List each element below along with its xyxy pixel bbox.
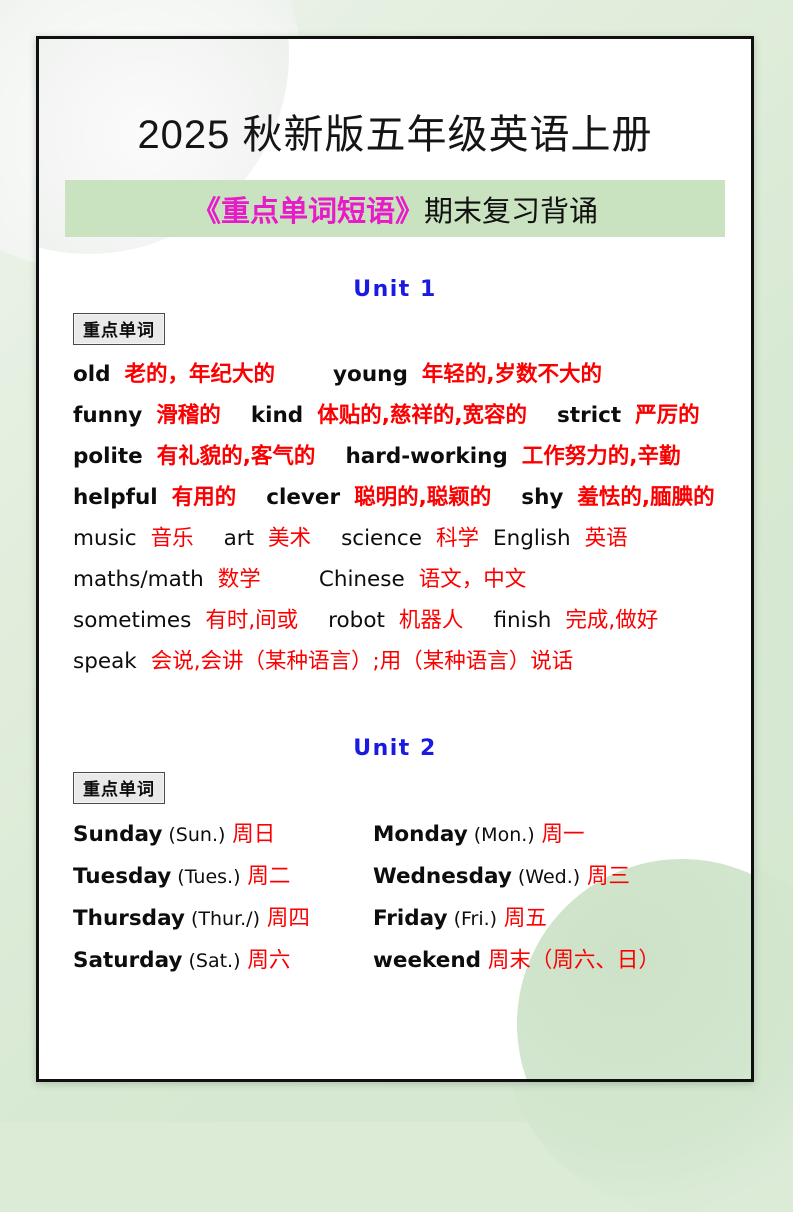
weekday-english: Tuesday xyxy=(73,864,171,889)
weekday-english: Saturday xyxy=(73,948,182,973)
word-line: funny滑稽的kind体贴的,慈祥的,宽容的strict严厉的 xyxy=(73,395,725,436)
subtitle-banner: 《重点单词短语》期末复习背诵 xyxy=(65,180,725,237)
word-chinese: 科学 xyxy=(436,526,479,551)
weekday-abbreviation: (Mon.) xyxy=(468,824,535,846)
weekday-chinese: 周一 xyxy=(535,822,585,847)
page-title: 2025 秋新版五年级英语上册 xyxy=(65,113,725,157)
weekday-abbreviation: (Wed.) xyxy=(512,866,580,888)
weekday-abbreviation: (Sat.) xyxy=(182,950,240,972)
weekday-abbreviation: (Fri.) xyxy=(448,908,498,930)
word-chinese: 老的，年纪大的 xyxy=(125,362,276,387)
word-chinese: 语文，中文 xyxy=(419,567,527,592)
unit-1-badge-row: 重点单词 xyxy=(65,313,725,345)
word-chinese: 机器人 xyxy=(399,608,464,633)
word-english: shy xyxy=(521,485,563,510)
weekday-row: Tuesday (Tues.) 周二Wednesday (Wed.) 周三 xyxy=(73,856,725,898)
weekday-entry: Saturday (Sat.) 周六 xyxy=(73,940,373,982)
word-english: speak xyxy=(73,649,137,674)
word-chinese: 聪明的,聪颖的 xyxy=(354,485,491,510)
word-english: English xyxy=(493,526,571,551)
subtitle-rest: 期末复习背诵 xyxy=(424,188,598,230)
weekday-entry: weekend 周末（周六、日） xyxy=(373,940,660,982)
unit-2-heading: Unit 2 xyxy=(65,736,725,761)
word-chinese: 会说,会讲（某种语言）;用（某种语言）说话 xyxy=(151,649,574,674)
weekday-abbreviation: (Thur./) xyxy=(185,908,260,930)
word-english: sometimes xyxy=(73,608,191,633)
weekday-english: Monday xyxy=(373,822,468,847)
weekday-chinese: 周四 xyxy=(260,906,310,931)
weekday-abbreviation: (Sun.) xyxy=(162,824,225,846)
weekday-chinese: 周六 xyxy=(241,948,291,973)
weekday-row: Thursday (Thur./) 周四Friday (Fri.) 周五 xyxy=(73,898,725,940)
word-chinese: 体贴的,慈祥的,宽容的 xyxy=(317,403,527,428)
word-line: polite有礼貌的,客气的hard-working工作努力的,辛勤 xyxy=(73,436,725,477)
word-english: maths/math xyxy=(73,567,204,592)
word-line: old老的，年纪大的young年轻的,岁数不大的 xyxy=(73,354,725,395)
weekday-chinese: 周末（周六、日） xyxy=(481,948,660,973)
word-english: science xyxy=(341,526,422,551)
word-english: music xyxy=(73,526,137,551)
word-english: funny xyxy=(73,403,142,428)
weekday-row: Saturday (Sat.) 周六weekend 周末（周六、日） xyxy=(73,940,725,982)
word-english: art xyxy=(224,526,254,551)
word-chinese: 羞怯的,腼腆的 xyxy=(577,485,714,510)
word-line: music音乐art美术science科学English英语 xyxy=(73,518,725,559)
word-chinese: 完成,做好 xyxy=(565,608,658,633)
word-english: finish xyxy=(493,608,551,633)
unit-1-heading: Unit 1 xyxy=(65,277,725,302)
weekday-entry: Sunday (Sun.) 周日 xyxy=(73,814,373,856)
weekday-row: Sunday (Sun.) 周日Monday (Mon.) 周一 xyxy=(73,814,725,856)
word-english: old xyxy=(73,362,111,387)
weekday-entry: Thursday (Thur./) 周四 xyxy=(73,898,373,940)
weekday-chinese: 周三 xyxy=(580,864,630,889)
document-card: 2025 秋新版五年级英语上册 《重点单词短语》期末复习背诵 Unit 1 重点… xyxy=(36,36,754,1082)
word-english: clever xyxy=(266,485,340,510)
weekday-english: Thursday xyxy=(73,906,185,931)
weekday-chinese: 周日 xyxy=(225,822,275,847)
document-body: 2025 秋新版五年级英语上册 《重点单词短语》期末复习背诵 Unit 1 重点… xyxy=(39,113,751,982)
word-english: Chinese xyxy=(319,567,405,592)
word-english: polite xyxy=(73,444,143,469)
word-line: maths/math数学Chinese语文，中文 xyxy=(73,559,725,600)
word-chinese: 音乐 xyxy=(151,526,194,551)
word-chinese: 英语 xyxy=(585,526,628,551)
word-chinese: 数学 xyxy=(218,567,261,592)
word-english: strict xyxy=(557,403,621,428)
weekday-english: Friday xyxy=(373,906,448,931)
weekday-english: Wednesday xyxy=(373,864,512,889)
word-english: kind xyxy=(251,403,303,428)
weekday-entry: Friday (Fri.) 周五 xyxy=(373,898,547,940)
word-english: young xyxy=(333,362,408,387)
weekday-chinese: 周五 xyxy=(497,906,547,931)
word-line: sometimes有时,间或robot机器人finish完成,做好 xyxy=(73,600,725,641)
weekday-english: weekend xyxy=(373,948,481,973)
word-chinese: 年轻的,岁数不大的 xyxy=(422,362,602,387)
word-chinese: 工作努力的,辛勤 xyxy=(522,444,681,469)
word-chinese: 有时,间或 xyxy=(205,608,298,633)
weekday-english: Sunday xyxy=(73,822,162,847)
word-chinese: 严厉的 xyxy=(635,403,700,428)
weekday-abbreviation: (Tues.) xyxy=(171,866,240,888)
word-english: hard-working xyxy=(345,444,507,469)
unit-2-weekday-grid: Sunday (Sun.) 周日Monday (Mon.) 周一Tuesday … xyxy=(65,814,725,982)
weekday-entry: Tuesday (Tues.) 周二 xyxy=(73,856,373,898)
subtitle-highlight: 《重点单词短语》 xyxy=(192,188,424,230)
word-english: robot xyxy=(328,608,385,633)
word-line: helpful有用的clever聪明的,聪颖的shy羞怯的,腼腆的 xyxy=(73,477,725,518)
weekday-chinese: 周二 xyxy=(241,864,291,889)
word-chinese: 有用的 xyxy=(172,485,237,510)
word-chinese: 有礼貌的,客气的 xyxy=(157,444,316,469)
key-words-badge: 重点单词 xyxy=(73,313,165,345)
word-chinese: 滑稽的 xyxy=(156,403,221,428)
word-english: helpful xyxy=(73,485,158,510)
unit-2-badge-row: 重点单词 xyxy=(65,772,725,804)
weekday-entry: Wednesday (Wed.) 周三 xyxy=(373,856,630,898)
word-line: speak会说,会讲（某种语言）;用（某种语言）说话 xyxy=(73,641,725,682)
weekday-entry: Monday (Mon.) 周一 xyxy=(373,814,585,856)
word-chinese: 美术 xyxy=(268,526,311,551)
key-words-badge: 重点单词 xyxy=(73,772,165,804)
unit-1-word-list: old老的，年纪大的young年轻的,岁数不大的funny滑稽的kind体贴的,… xyxy=(65,354,725,682)
